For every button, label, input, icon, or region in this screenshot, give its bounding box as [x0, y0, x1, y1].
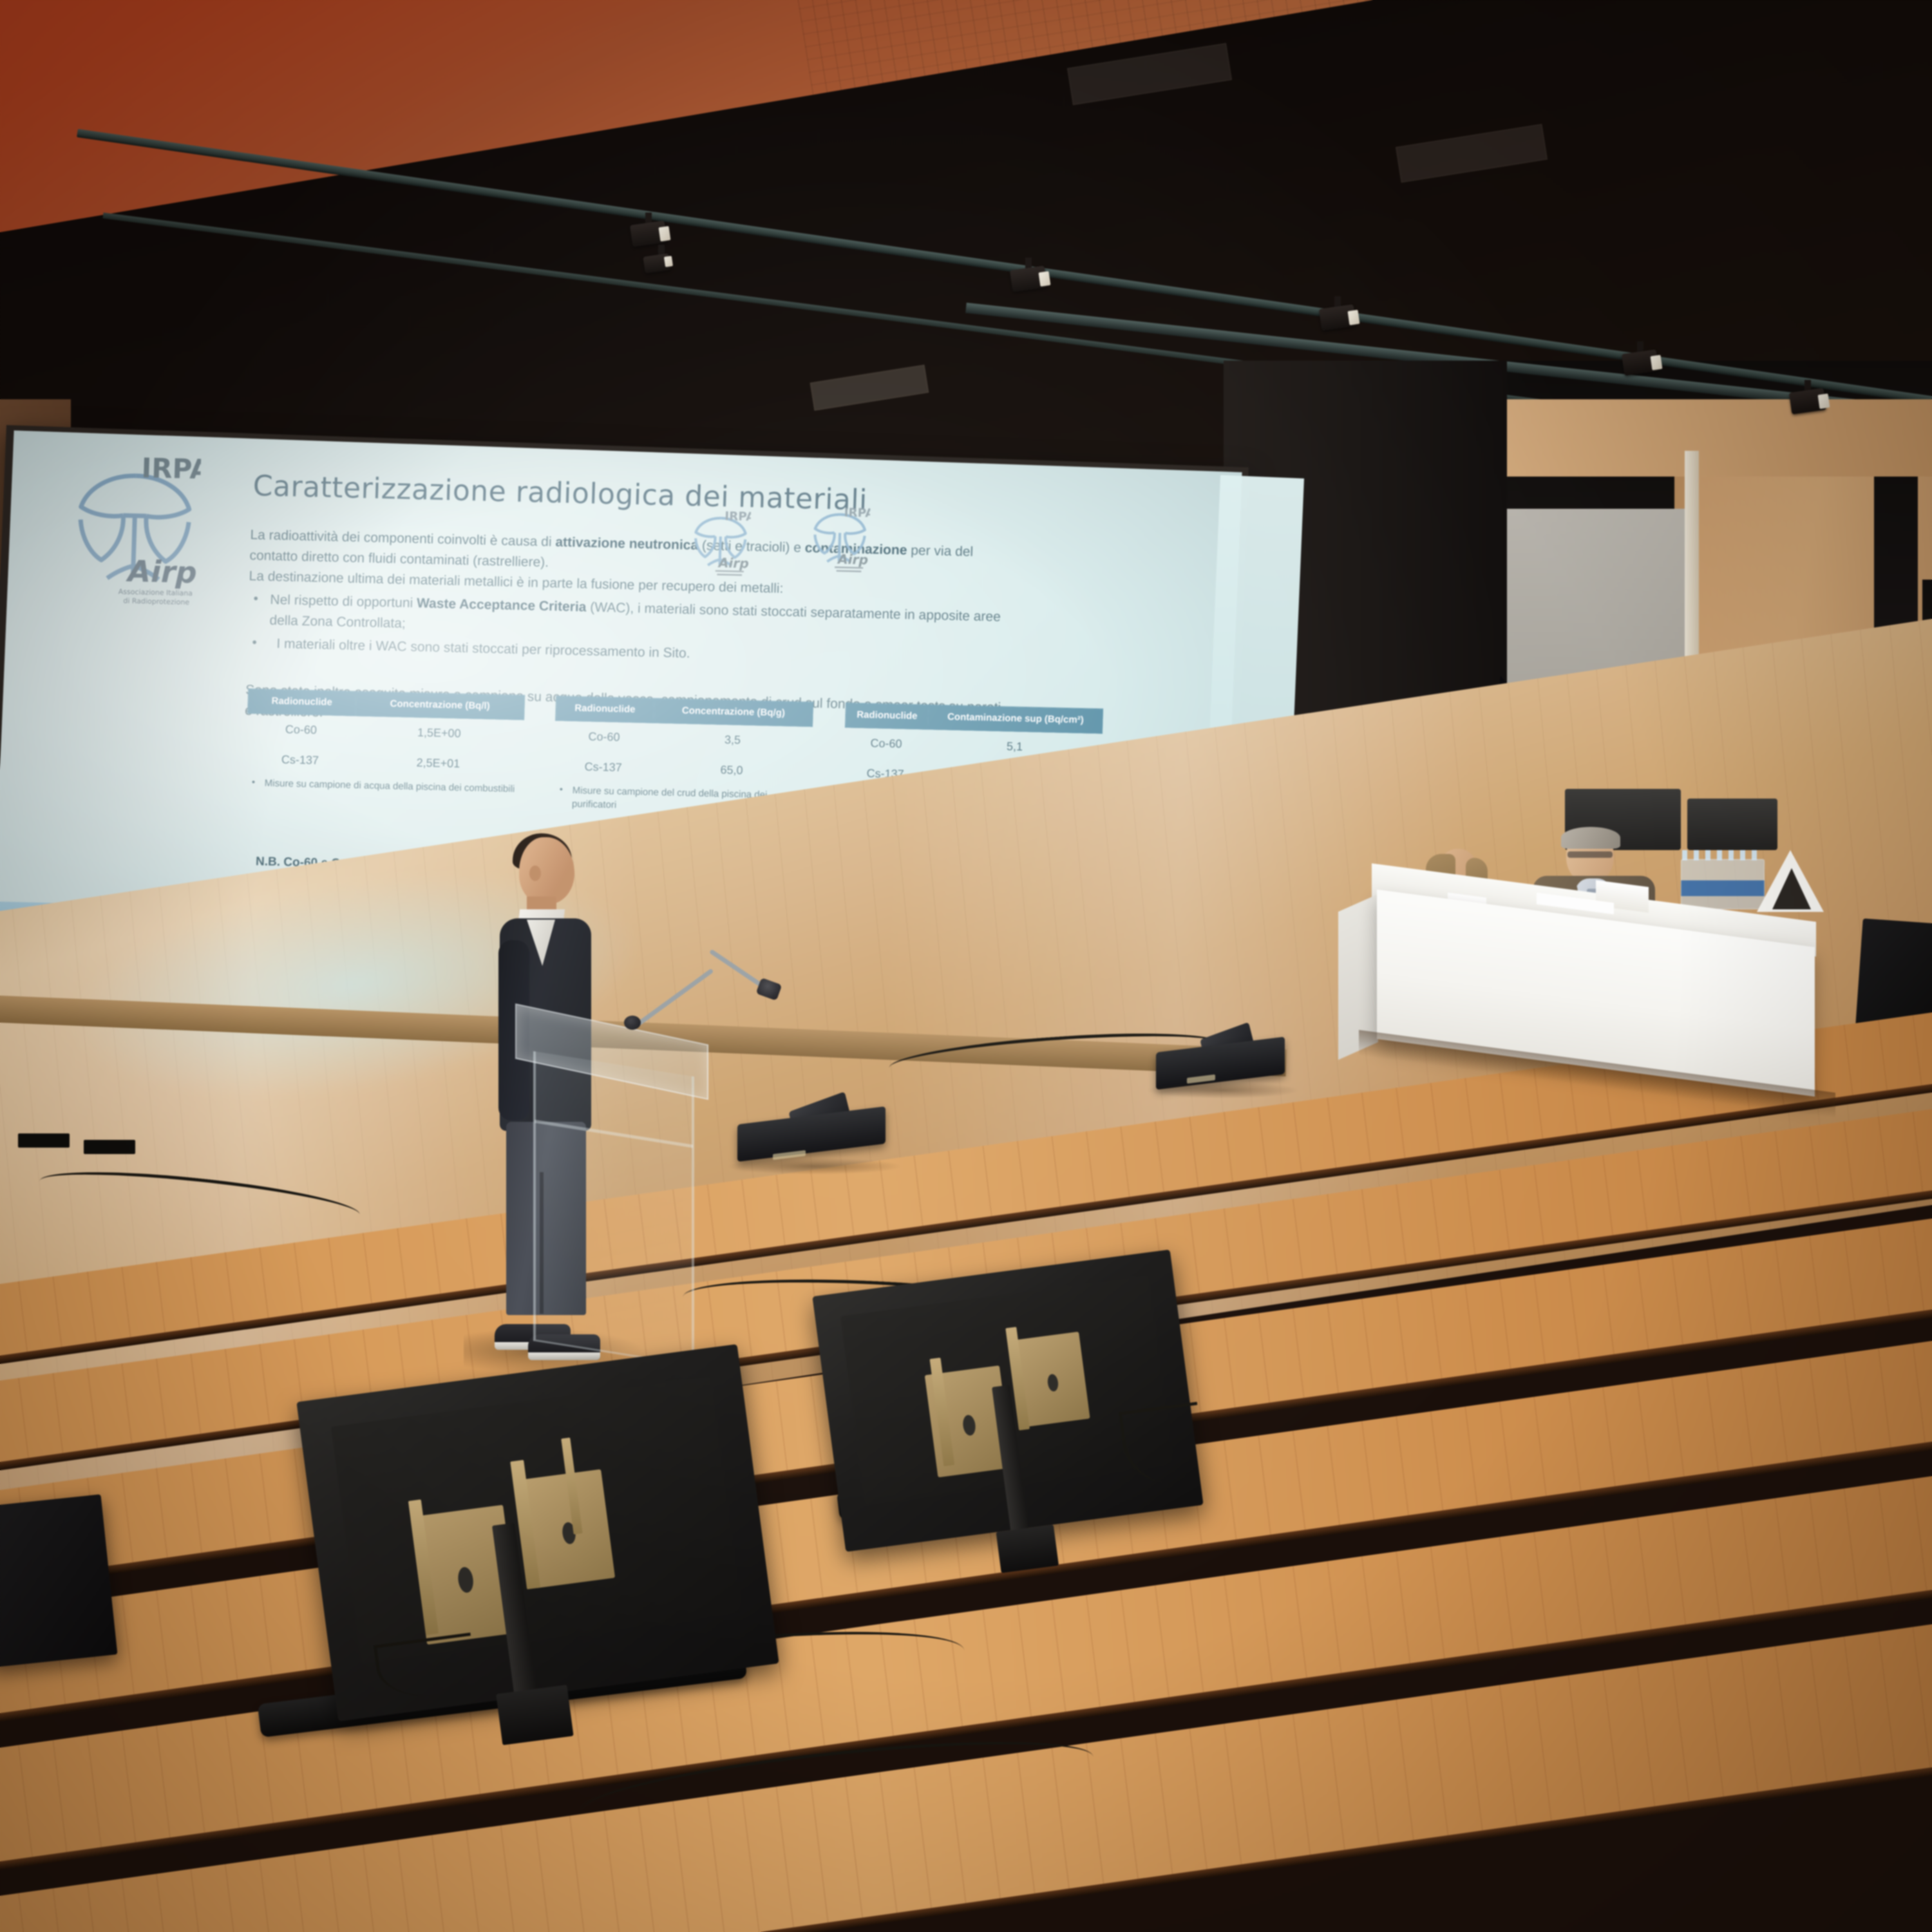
vesa-hole	[962, 1414, 977, 1436]
table-acque-vasca: Radionuclide Concentrazione (Bq/l) Co-60…	[245, 688, 525, 797]
confidence-monitor-left	[296, 1344, 779, 1721]
mic-gooseneck-upper	[709, 949, 765, 989]
mic-capsule	[624, 1016, 641, 1030]
vesa-hole	[1046, 1374, 1059, 1392]
logo-subtitle-2: di Radioprotezione	[123, 596, 189, 606]
table-cell: 65,0	[652, 753, 811, 788]
bullet-pre: Nel rispetto di opportuni	[270, 592, 417, 611]
svg-text:IRPA: IRPA	[844, 506, 870, 520]
spotlight-lens	[659, 226, 671, 241]
stage-monitor-wedge	[737, 1101, 885, 1166]
floor-vent	[84, 1140, 135, 1154]
table-header-cell: Radionuclide	[556, 696, 655, 723]
bullet-bold: Waste Acceptance Criteria	[417, 596, 587, 614]
wood-wall-upper-band	[1494, 399, 1932, 477]
paragraph-lead: La radioattività dei componenti coinvolt…	[250, 527, 556, 549]
gooseneck-microphone	[634, 898, 763, 1046]
svg-text:IRPA: IRPA	[724, 509, 751, 524]
table-cell: Co-60	[554, 721, 654, 753]
table-header-cell: Concentrazione (Bq/g)	[654, 698, 813, 726]
slide-title: Caratterizzazione radiologica dei materi…	[252, 469, 1026, 520]
equipment-case-foreground-left	[0, 1494, 118, 1668]
floor-vent	[18, 1133, 70, 1148]
table-cell: 1,5E+00	[354, 716, 524, 751]
table-cell: 3,5	[653, 723, 813, 757]
water-bottles	[1681, 859, 1765, 909]
stage-monitor-wedge	[1156, 1030, 1285, 1090]
spotlight-lens	[1818, 393, 1830, 409]
acrylic-lectern	[515, 1024, 728, 1385]
table-cell: Cs-137	[554, 751, 653, 784]
monitor-stand-foot	[497, 1685, 574, 1745]
irpa-airp-logo: IRPA Airp Associazione Italiana di Radio…	[68, 450, 201, 608]
tent-card-inner-shadow	[1772, 868, 1811, 909]
table-header-cell: Radionuclide	[248, 689, 356, 716]
table-row: Cs-137 2,5E+01	[246, 744, 523, 781]
speaker-ear	[529, 866, 541, 881]
svg-text:Airp: Airp	[837, 551, 869, 567]
table-header-cell: Contaminazione sup (Bq/cm²)	[928, 705, 1103, 734]
panel-table	[1372, 831, 1861, 1082]
table-cell: Co-60	[844, 728, 928, 761]
spotlight-lens	[1651, 355, 1663, 370]
mic-gooseneck-lower	[633, 969, 714, 1029]
monitor-stand-foot	[996, 1524, 1059, 1573]
spotlight-lens	[1039, 271, 1051, 287]
confidence-monitor-right	[812, 1249, 1203, 1552]
table-header-cell: Concentrazione (Bq/l)	[355, 691, 525, 719]
irpa-airp-logo-duplicate-2: IRPA Airp	[809, 502, 870, 576]
paragraph-bold-1: attivazione neutronica	[555, 535, 698, 553]
table-cell: Cs-137	[246, 744, 354, 777]
logo-irpa-text: IRPA	[141, 452, 202, 486]
spotlight-lens	[1348, 310, 1360, 325]
spotlight-lens	[664, 256, 673, 267]
logo-airp-text: Airp	[126, 554, 198, 591]
table-header-cell: Radionuclide	[845, 703, 929, 729]
wedge-shadow	[726, 1158, 904, 1175]
irpa-airp-logo-duplicate-1: IRPA Airp	[690, 506, 751, 579]
table-row: Cs-137 65,0	[554, 751, 811, 787]
speaker-head	[519, 837, 574, 904]
svg-text:Airp: Airp	[717, 555, 749, 571]
auditorium-photo: IRPA Airp Associazione Italiana di Radio…	[0, 0, 1932, 1932]
vesa-hole	[457, 1566, 475, 1594]
table-cell: 2,5E+01	[354, 746, 523, 781]
wedge-shadow	[1146, 1082, 1300, 1099]
lectern-body	[533, 1051, 694, 1367]
table-cell: Co-60	[247, 714, 355, 746]
logo-subtitle-1: Associazione Italiana	[118, 587, 193, 598]
